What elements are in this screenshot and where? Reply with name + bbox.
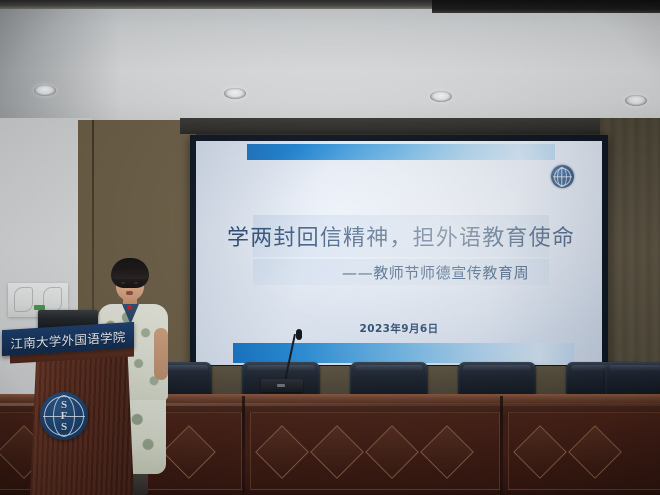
projected-slide: 学两封回信精神，担外语教育使命 ——教师节师德宣传教育周 2023年9月6日: [196, 141, 602, 365]
panel-diamond: [568, 425, 622, 479]
microphone-indicator: [277, 384, 285, 387]
microphone-capsule: [296, 329, 302, 340]
globe-emblem-icon: [551, 165, 574, 188]
sfs-globe-logo: S F S: [40, 392, 88, 440]
panel-diamond: [513, 425, 567, 479]
slide-top-band: [247, 144, 556, 160]
ceiling-downlight: [34, 85, 56, 96]
panel-diamond: [420, 425, 474, 479]
slide-date: 2023年9月6日: [196, 321, 602, 336]
projection-screen-frame: 学两封回信精神，担外语教育使命 ——教师节师德宣传教育周 2023年9月6日: [190, 135, 608, 370]
lapel-microphone-icon: [127, 305, 132, 310]
globe-ring-inner: [557, 167, 567, 187]
presenter-arm: [154, 328, 168, 380]
chair: [458, 362, 536, 398]
cabinet-motif: [43, 287, 62, 312]
table-panel: [250, 412, 500, 490]
presenter-eye: [121, 282, 125, 284]
emblem-letter-s-bottom: S: [40, 421, 88, 433]
lecture-hall-photo: 学两封回信精神，担外语教育使命 ——教师节师德宣传教育周 2023年9月6日: [0, 0, 660, 495]
ceiling-recess-box: [432, 0, 660, 13]
presenter-eye: [134, 282, 138, 284]
ceiling-shadow: [0, 0, 120, 128]
presenter-bangs: [112, 266, 148, 279]
presenter-mouth: [126, 291, 133, 295]
podium-sign-text: 江南大学外国语学院: [10, 326, 125, 352]
slide-subtitle: ——教师节师德宣传教育周: [253, 259, 549, 285]
panel-diamond: [365, 425, 419, 479]
chair: [350, 362, 428, 398]
ceiling-downlight: [224, 88, 246, 99]
ceiling-downlight: [430, 91, 452, 102]
ceiling-downlight: [625, 95, 647, 106]
slide-bottom-band: [233, 343, 574, 363]
cabinet-motif: [14, 287, 33, 312]
chair: [605, 362, 660, 398]
table-seam: [500, 396, 503, 495]
panel-diamond: [255, 425, 309, 479]
table-panel: [508, 412, 660, 490]
panel-diamond: [310, 425, 364, 479]
table-seam: [242, 396, 245, 495]
slide-title: 学两封回信精神，担外语教育使命: [253, 215, 549, 257]
back-wall-strip: [180, 118, 605, 134]
